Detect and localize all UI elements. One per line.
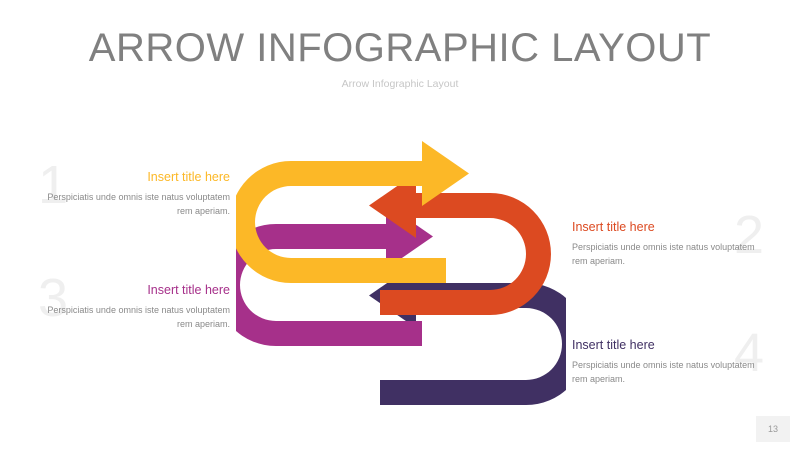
item-title-1: Insert title here — [30, 170, 230, 184]
info-item-1[interactable]: 1 Insert title here Perspiciatis unde om… — [30, 170, 230, 219]
item-title-2: Insert title here — [572, 220, 772, 234]
arrow-infographic-graphic — [236, 120, 566, 405]
page-number-badge: 13 — [756, 416, 790, 442]
item-body-2: Perspiciatis unde omnis iste natus volup… — [572, 241, 772, 269]
item-body-1: Perspiciatis unde omnis iste natus volup… — [30, 191, 230, 219]
item-title-4: Insert title here — [572, 338, 772, 352]
info-item-2[interactable]: 2 Insert title here Perspiciatis unde om… — [572, 220, 772, 269]
info-item-4[interactable]: 4 Insert title here Perspiciatis unde om… — [572, 338, 772, 387]
page-subtitle: Arrow Infographic Layout — [0, 78, 800, 90]
slide-canvas: ARROW INFOGRAPHIC LAYOUT Arrow Infograph… — [0, 0, 800, 450]
item-body-3: Perspiciatis unde omnis iste natus volup… — [30, 304, 230, 332]
info-item-3[interactable]: 3 Insert title here Perspiciatis unde om… — [30, 283, 230, 332]
item-title-3: Insert title here — [30, 283, 230, 297]
item-body-4: Perspiciatis unde omnis iste natus volup… — [572, 359, 772, 387]
page-title: ARROW INFOGRAPHIC LAYOUT — [0, 26, 800, 71]
